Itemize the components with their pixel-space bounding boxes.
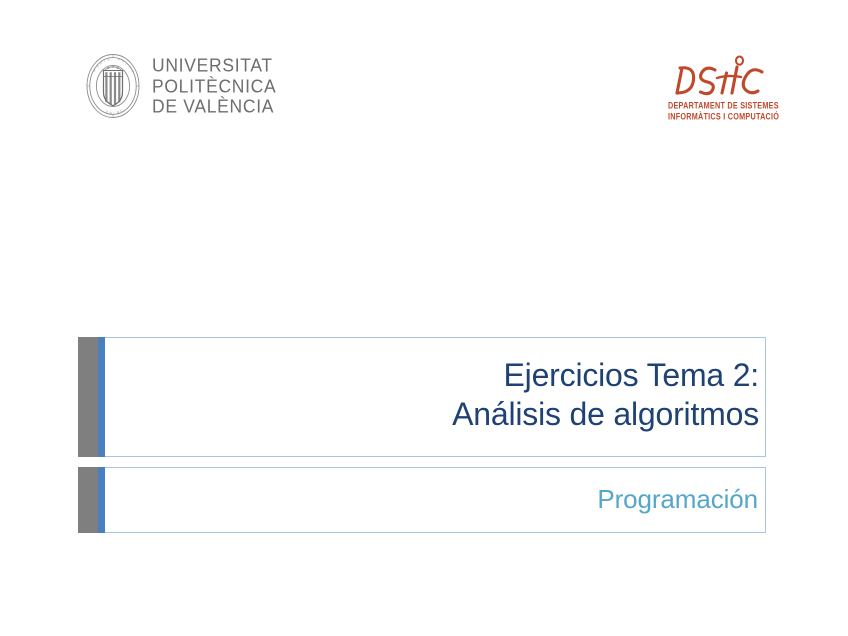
title-gray-accent-bar <box>78 337 98 457</box>
dsic-logo: DEPARTAMENT DE SISTEMES INFORMÀTICS I CO… <box>668 55 786 120</box>
upv-logo: A S S I S P O L I T V A L N C <box>84 52 276 120</box>
upv-line-2: POLITÈCNICA <box>152 75 276 97</box>
page-title: Ejercicios Tema 2: Análisis de algoritmo… <box>452 356 759 434</box>
subtitle-gray-accent-bar <box>78 467 98 533</box>
upv-wordmark: UNIVERSITAT POLITÈCNICA DE VALÈNCIA <box>152 55 276 117</box>
dsic-subtitle-line-2: INFORMÀTICS I COMPUTACIÓ <box>668 111 784 123</box>
page-subtitle: Programación <box>597 484 758 514</box>
svg-text:I: I <box>103 59 106 63</box>
title-panel: Ejercicios Tema 2: Análisis de algoritmo… <box>105 337 766 457</box>
dsic-subtitle-line-1: DEPARTAMENT DE SISTEMES <box>668 100 784 112</box>
upv-seal-icon: A S S I S P O L I T V A L N C <box>84 52 142 120</box>
presentation-slide: A S S I S P O L I T V A L N C <box>0 0 848 636</box>
upv-line-1: UNIVERSITAT <box>152 55 276 77</box>
title-block: Ejercicios Tema 2: Análisis de algoritmo… <box>78 337 766 457</box>
upv-line-3: DE VALÈNCIA <box>152 96 276 118</box>
subtitle-panel: Programación <box>105 467 766 533</box>
dsic-wordmark-icon <box>668 55 786 99</box>
svg-text:C: C <box>120 108 124 113</box>
subtitle-block: Programación <box>78 467 766 533</box>
title-blue-accent-bar <box>98 337 105 457</box>
subtitle-blue-accent-bar <box>98 467 105 533</box>
svg-text:L: L <box>113 111 115 115</box>
svg-text:O: O <box>121 59 125 64</box>
